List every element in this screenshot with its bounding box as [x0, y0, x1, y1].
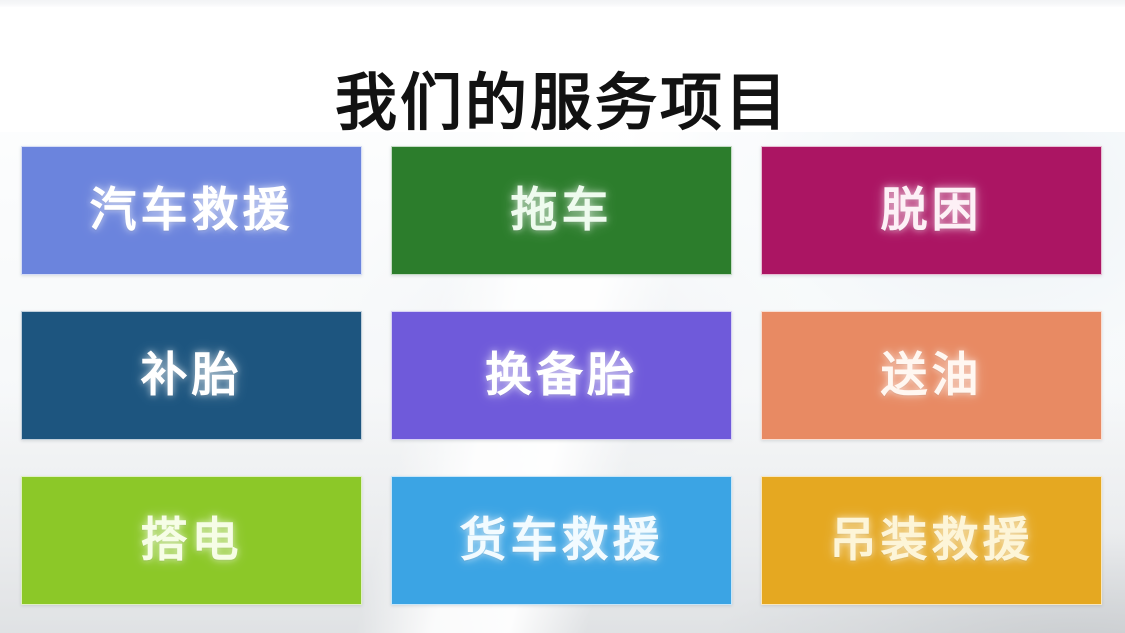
service-tile-label: 补胎 [141, 348, 243, 404]
service-tile[interactable]: 吊装救援 [761, 476, 1102, 605]
service-menu-slide: 我们的服务项目 汽车救援拖车脱困补胎换备胎送油搭电货车救援吊装救援 [0, 0, 1125, 633]
service-tile-grid: 汽车救援拖车脱困补胎换备胎送油搭电货车救援吊装救援 [21, 146, 1103, 615]
service-tile[interactable]: 拖车 [391, 146, 732, 275]
service-tile-label: 汽车救援 [90, 183, 294, 239]
service-tile[interactable]: 补胎 [21, 311, 362, 440]
service-tile-label: 货车救援 [460, 513, 664, 569]
service-tile-label: 换备胎 [485, 348, 638, 404]
service-tile-label: 吊装救援 [830, 513, 1034, 569]
service-tile-label: 送油 [881, 348, 983, 404]
page-title: 我们的服务项目 [0, 64, 1125, 142]
service-tile[interactable]: 货车救援 [391, 476, 732, 605]
top-edge-strip [0, 0, 1125, 7]
service-tile-label: 搭电 [141, 513, 243, 569]
service-tile-label: 脱困 [881, 183, 983, 239]
service-tile[interactable]: 脱困 [761, 146, 1102, 275]
service-tile[interactable]: 送油 [761, 311, 1102, 440]
service-tile-label: 拖车 [511, 183, 613, 239]
service-tile[interactable]: 换备胎 [391, 311, 732, 440]
service-tile[interactable]: 搭电 [21, 476, 362, 605]
service-tile[interactable]: 汽车救援 [21, 146, 362, 275]
